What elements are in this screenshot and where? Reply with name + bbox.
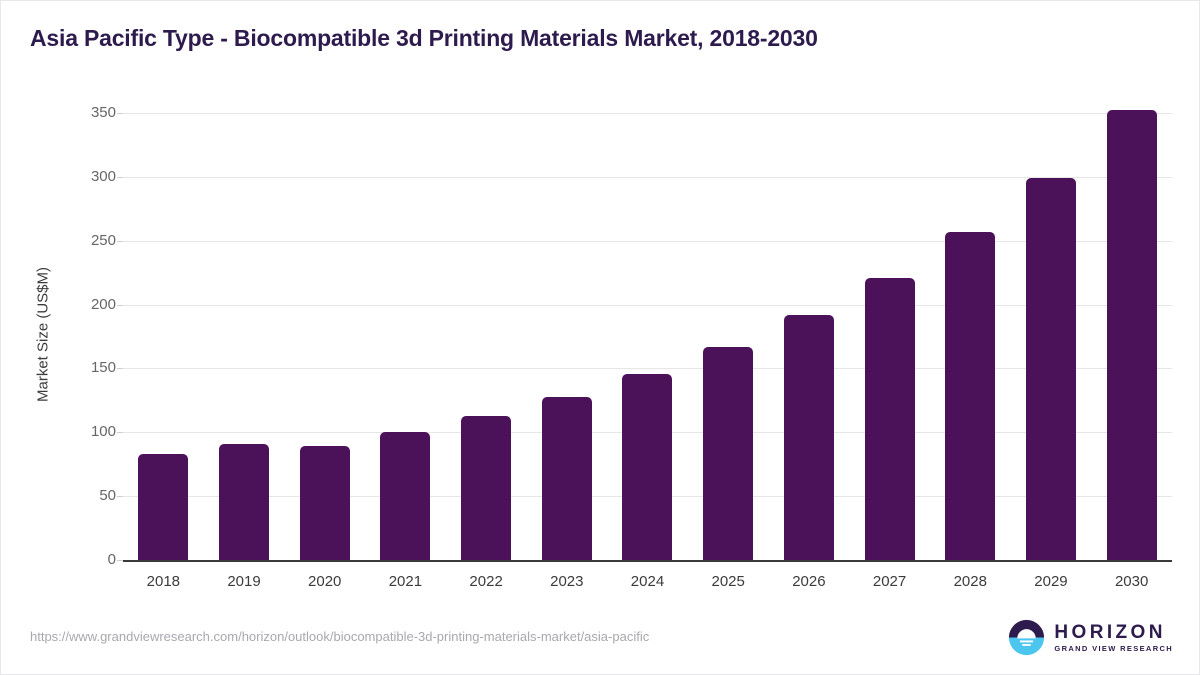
bar[interactable] [461,416,511,560]
y-axis-tick-label: 0 [56,552,116,567]
x-axis-tick-label: 2021 [389,573,422,590]
x-axis-tick-label: 2030 [1115,573,1148,590]
x-axis-tick-label: 2025 [712,573,745,590]
bar[interactable] [1026,178,1076,560]
bar-series: 2018201920202021202220232024202520262027… [123,1,1172,675]
bar[interactable] [1107,110,1157,560]
y-axis-tick-label: 250 [56,233,116,248]
bar-group: 2022 [446,1,527,675]
x-axis-tick-label: 2019 [227,573,260,590]
source-url[interactable]: https://www.grandviewresearch.com/horizo… [30,629,649,644]
bar[interactable] [865,278,915,560]
bar[interactable] [380,432,430,560]
x-axis-tick-label: 2023 [550,573,583,590]
bar-group: 2027 [849,1,930,675]
bar-group: 2021 [365,1,446,675]
bar-group: 2028 [930,1,1011,675]
y-axis-tick-label: 200 [56,297,116,312]
y-axis-tick-label: 150 [56,360,116,375]
bar[interactable] [945,232,995,560]
x-axis-tick-label: 2028 [954,573,987,590]
x-axis-tick-label: 2024 [631,573,664,590]
x-axis-tick-label: 2029 [1034,573,1067,590]
y-axis-tick-label: 100 [56,424,116,439]
x-axis-tick-label: 2026 [792,573,825,590]
x-axis-tick-label: 2018 [147,573,180,590]
bar[interactable] [703,347,753,560]
bar-group: 2024 [607,1,688,675]
bar[interactable] [219,444,269,560]
x-axis-tick-label: 2027 [873,573,906,590]
chart-plot-area: Market Size (US$M) 050100150200250300350… [1,1,1200,675]
bar-group: 2023 [526,1,607,675]
y-axis-tick-label: 350 [56,105,116,120]
horizon-logo-text: HORIZON GRAND VIEW RESEARCH [1054,623,1173,653]
x-axis-tick-label: 2022 [469,573,502,590]
bar[interactable] [138,454,188,560]
y-axis-tick-labels: 050100150200250300350 [56,1,116,675]
y-axis-title: Market Size (US$M) [35,125,52,545]
bar[interactable] [300,446,350,560]
logo-wordmark: HORIZON [1054,623,1173,642]
bar-group: 2018 [123,1,204,675]
bar-group: 2019 [204,1,285,675]
horizon-logo[interactable]: HORIZON GRAND VIEW RESEARCH [1008,619,1173,656]
x-axis-tick-label: 2020 [308,573,341,590]
y-axis-tick-label: 300 [56,169,116,184]
bar-group: 2025 [688,1,769,675]
bar-group: 2029 [1011,1,1092,675]
bar[interactable] [784,315,834,560]
bar[interactable] [622,374,672,560]
logo-subtitle: GRAND VIEW RESEARCH [1054,645,1173,653]
bar-group: 2026 [769,1,850,675]
bar-group: 2030 [1091,1,1172,675]
bar[interactable] [542,397,592,560]
chart-screenshot: Asia Pacific Type - Biocompatible 3d Pri… [0,0,1200,675]
bar-group: 2020 [284,1,365,675]
y-axis-tick-label: 50 [56,488,116,503]
horizon-logo-icon [1008,619,1045,656]
